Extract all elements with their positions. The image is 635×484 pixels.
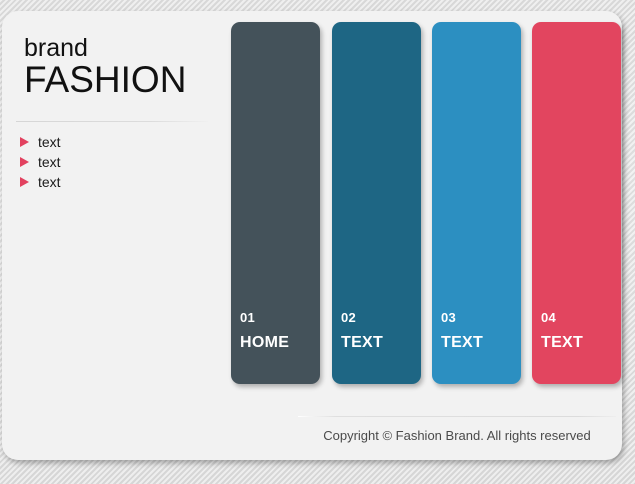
nav-column-4[interactable]: 04 TEXT (532, 22, 621, 384)
sidebar-item-label: text (38, 172, 61, 192)
brand-logo[interactable]: brand FASHION (24, 34, 224, 100)
brand-name-large: FASHION (24, 60, 224, 100)
column-number: 03 (441, 309, 483, 327)
column-caption: 02 TEXT (341, 309, 383, 354)
main-card: brand FASHION text text text 01 HOME (2, 11, 622, 460)
footer-divider (298, 416, 616, 417)
triangle-right-icon (20, 157, 29, 167)
footer-copyright: Copyright © Fashion Brand. All rights re… (298, 427, 616, 445)
column-caption: 04 TEXT (541, 309, 583, 354)
sidebar-item-label: text (38, 152, 61, 172)
column-caption: 01 HOME (240, 309, 289, 354)
nav-column-3[interactable]: 03 TEXT (432, 22, 521, 384)
column-title: TEXT (441, 332, 483, 354)
column-number: 01 (240, 309, 289, 327)
column-title: TEXT (341, 332, 383, 354)
sidebar-nav: text text text (20, 132, 210, 192)
column-title: HOME (240, 332, 289, 354)
column-caption: 03 TEXT (441, 309, 483, 354)
sidebar-item-text-2[interactable]: text (20, 152, 210, 172)
triangle-right-icon (20, 137, 29, 147)
brand-name-small: brand (24, 34, 224, 62)
brand-divider (16, 121, 208, 122)
nav-column-home[interactable]: 01 HOME (231, 22, 320, 384)
column-title: TEXT (541, 332, 583, 354)
page-stage: brand FASHION text text text 01 HOME (0, 0, 635, 484)
sidebar-item-text-1[interactable]: text (20, 132, 210, 152)
column-number: 02 (341, 309, 383, 327)
column-number: 04 (541, 309, 583, 327)
nav-column-2[interactable]: 02 TEXT (332, 22, 421, 384)
sidebar-item-label: text (38, 132, 61, 152)
sidebar-item-text-3[interactable]: text (20, 172, 210, 192)
triangle-right-icon (20, 177, 29, 187)
